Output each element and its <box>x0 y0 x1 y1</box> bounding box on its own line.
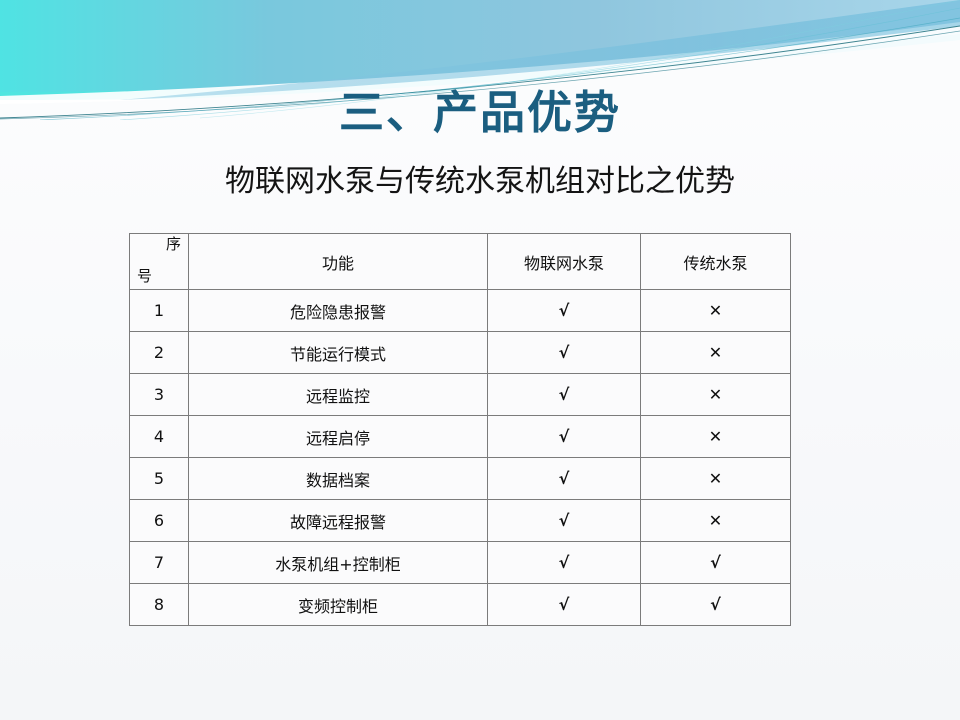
header-index-bottom: 号 <box>137 269 152 284</box>
cell-traditional-mark: ✕ <box>641 458 791 500</box>
cell-function: 危险隐患报警 <box>189 290 488 332</box>
cell-index: 3 <box>130 374 189 416</box>
cell-traditional-mark: ✕ <box>641 374 791 416</box>
cell-index: 1 <box>130 290 189 332</box>
cell-function: 故障远程报警 <box>189 500 488 542</box>
cell-index: 6 <box>130 500 189 542</box>
comparison-table-wrapper: 序 号 功能 物联网水泵 传统水泵 1 危险隐患报警 √ ✕ 2 节能运行模式 <box>129 233 790 626</box>
comparison-table: 序 号 功能 物联网水泵 传统水泵 1 危险隐患报警 √ ✕ 2 节能运行模式 <box>129 233 791 626</box>
cell-iot-mark: √ <box>488 500 641 542</box>
cell-iot-mark: √ <box>488 332 641 374</box>
header-index-top: 序 <box>166 237 181 252</box>
cell-traditional-mark: ✕ <box>641 332 791 374</box>
page-title: 三、产品优势 <box>0 87 960 139</box>
cell-function: 数据档案 <box>189 458 488 500</box>
cell-function: 水泵机组+控制柜 <box>189 542 488 584</box>
cell-index: 8 <box>130 584 189 626</box>
table-row: 8 变频控制柜 √ √ <box>130 584 791 626</box>
cell-traditional-mark: ✕ <box>641 290 791 332</box>
table-row: 4 远程启停 √ ✕ <box>130 416 791 458</box>
cell-traditional-mark: √ <box>641 584 791 626</box>
header-cell-function: 功能 <box>189 234 488 290</box>
cell-traditional-mark: ✕ <box>641 416 791 458</box>
slide: 三、产品优势 物联网水泵与传统水泵机组对比之优势 序 号 功能 物联网水泵 传统… <box>0 0 960 720</box>
table-row: 3 远程监控 √ ✕ <box>130 374 791 416</box>
header-cell-index: 序 号 <box>130 234 189 290</box>
table-row: 1 危险隐患报警 √ ✕ <box>130 290 791 332</box>
cell-index: 7 <box>130 542 189 584</box>
table-row: 6 故障远程报警 √ ✕ <box>130 500 791 542</box>
cell-iot-mark: √ <box>488 542 641 584</box>
cell-index: 4 <box>130 416 189 458</box>
cell-iot-mark: √ <box>488 290 641 332</box>
cell-iot-mark: √ <box>488 584 641 626</box>
header-cell-traditional-pump: 传统水泵 <box>641 234 791 290</box>
cell-traditional-mark: ✕ <box>641 500 791 542</box>
table-row: 5 数据档案 √ ✕ <box>130 458 791 500</box>
cell-iot-mark: √ <box>488 416 641 458</box>
cell-function: 节能运行模式 <box>189 332 488 374</box>
page-subtitle: 物联网水泵与传统水泵机组对比之优势 <box>0 164 960 200</box>
header-cell-iot-pump: 物联网水泵 <box>488 234 641 290</box>
cell-iot-mark: √ <box>488 374 641 416</box>
cell-function: 变频控制柜 <box>189 584 488 626</box>
cell-index: 2 <box>130 332 189 374</box>
cell-traditional-mark: √ <box>641 542 791 584</box>
table-row: 2 节能运行模式 √ ✕ <box>130 332 791 374</box>
table-row: 7 水泵机组+控制柜 √ √ <box>130 542 791 584</box>
cell-function: 远程启停 <box>189 416 488 458</box>
cell-index: 5 <box>130 458 189 500</box>
cell-iot-mark: √ <box>488 458 641 500</box>
table-header-row: 序 号 功能 物联网水泵 传统水泵 <box>130 234 791 290</box>
cell-function: 远程监控 <box>189 374 488 416</box>
